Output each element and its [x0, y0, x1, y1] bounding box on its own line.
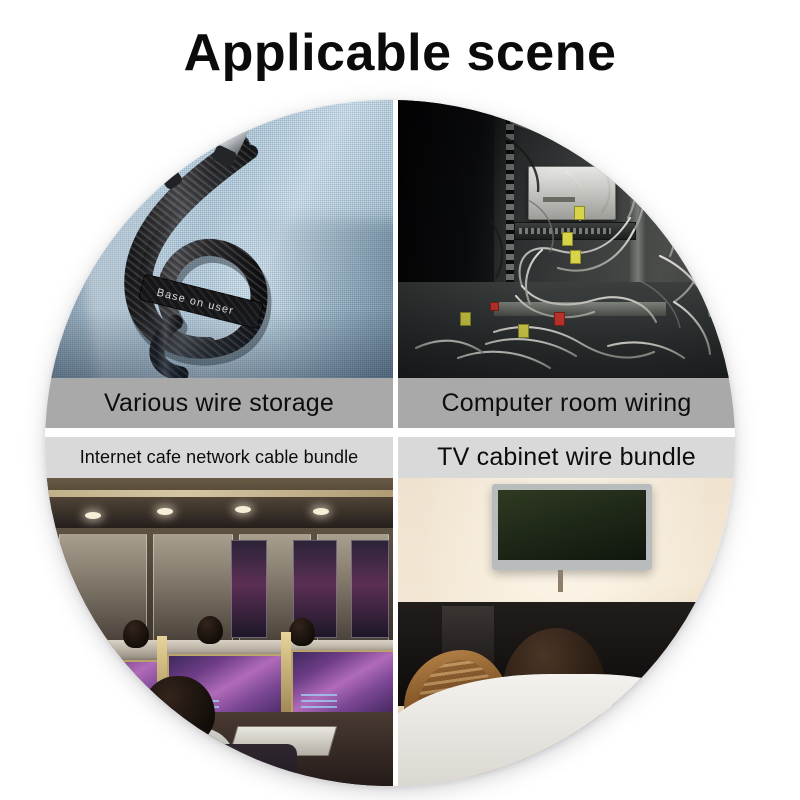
ceiling-light-strip [45, 490, 393, 497]
ceiling-light [313, 508, 329, 515]
cafe-wall-poster [231, 540, 267, 638]
sofa [398, 674, 735, 786]
fabric-bottom-shadow [45, 308, 393, 378]
applicable-scene-collage: Base on user [45, 100, 735, 786]
cafe-chair [187, 744, 297, 786]
scene-label: Internet cafe network cable bundle [80, 447, 359, 468]
column-separator [393, 100, 398, 786]
ceiling-light [157, 508, 173, 515]
cafe-patron-head [123, 620, 149, 648]
page-title: Applicable scene [0, 26, 800, 81]
cafe-patron-head [289, 618, 315, 646]
cafe-patron-head [197, 616, 223, 644]
label-band-internet-cafe-network-cable-bundle: Internet cafe network cable bundle [45, 437, 393, 478]
cafe-gamer-head [141, 676, 215, 746]
label-band-computer-room-wiring: Computer room wiring [398, 378, 735, 428]
wall-mounted-tv [492, 484, 652, 570]
tv-cable-run [558, 570, 563, 592]
collage-circle: Base on user [45, 100, 735, 786]
rack-vignette [398, 100, 735, 378]
scene-label: Computer room wiring [442, 389, 692, 418]
scene-label: Various wire storage [104, 389, 334, 418]
scene-photo-computer-room-wiring [398, 100, 735, 378]
scene-label: TV cabinet wire bundle [437, 443, 696, 472]
scene-photo-various-wire-storage: Base on user [45, 100, 393, 378]
ceiling-light [235, 506, 251, 513]
cafe-wall-poster [351, 540, 389, 638]
label-band-tv-cabinet-wire-bundle: TV cabinet wire bundle [398, 437, 735, 478]
device-connector [141, 139, 184, 191]
scene-photo-tv-cabinet [398, 478, 735, 786]
band-separator [45, 428, 735, 437]
label-band-various-wire-storage: Various wire storage [45, 378, 393, 428]
ceiling-light [85, 512, 101, 519]
scene-photo-internet-cafe [45, 478, 393, 786]
